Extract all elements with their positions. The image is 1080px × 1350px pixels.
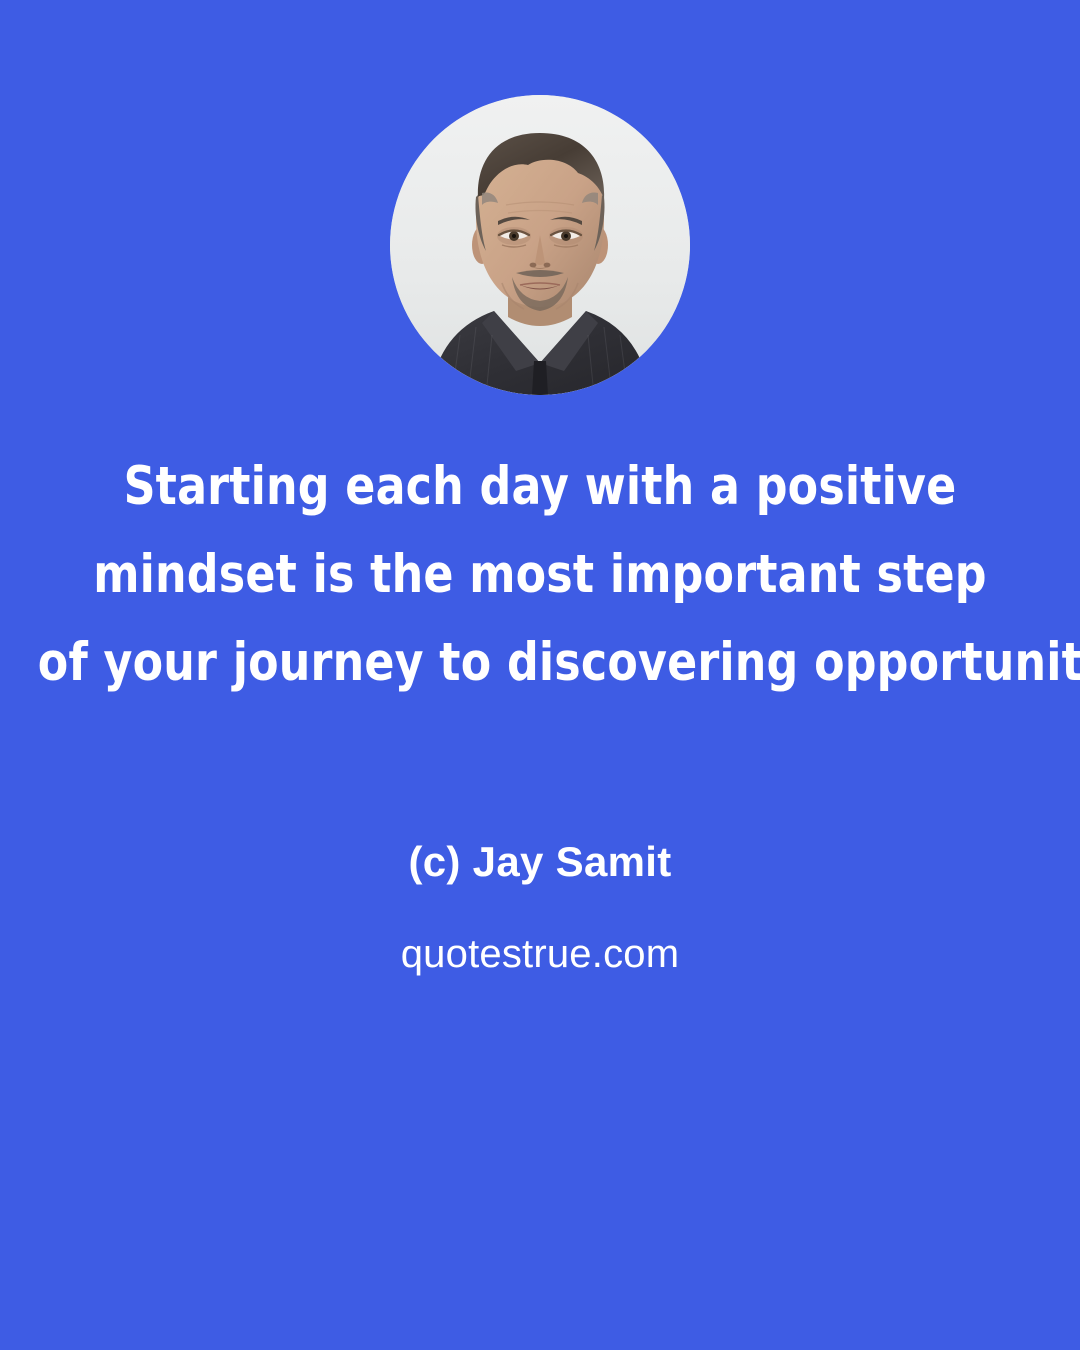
avatar (390, 95, 690, 395)
portrait-photo-icon (390, 95, 690, 395)
quote-attribution: (c) Jay Samit (0, 836, 1080, 888)
source-website: quotestrue.com (0, 928, 1080, 980)
quote-line: of your journey to discovering opportuni… (38, 619, 1042, 707)
quote-card: Starting each day with a positive mindse… (0, 0, 1080, 1350)
quote-line: Starting each day with a positive (38, 443, 1042, 531)
quote-text: Starting each day with a positive mindse… (38, 443, 1042, 707)
quote-line: mindset is the most important step (38, 531, 1042, 619)
